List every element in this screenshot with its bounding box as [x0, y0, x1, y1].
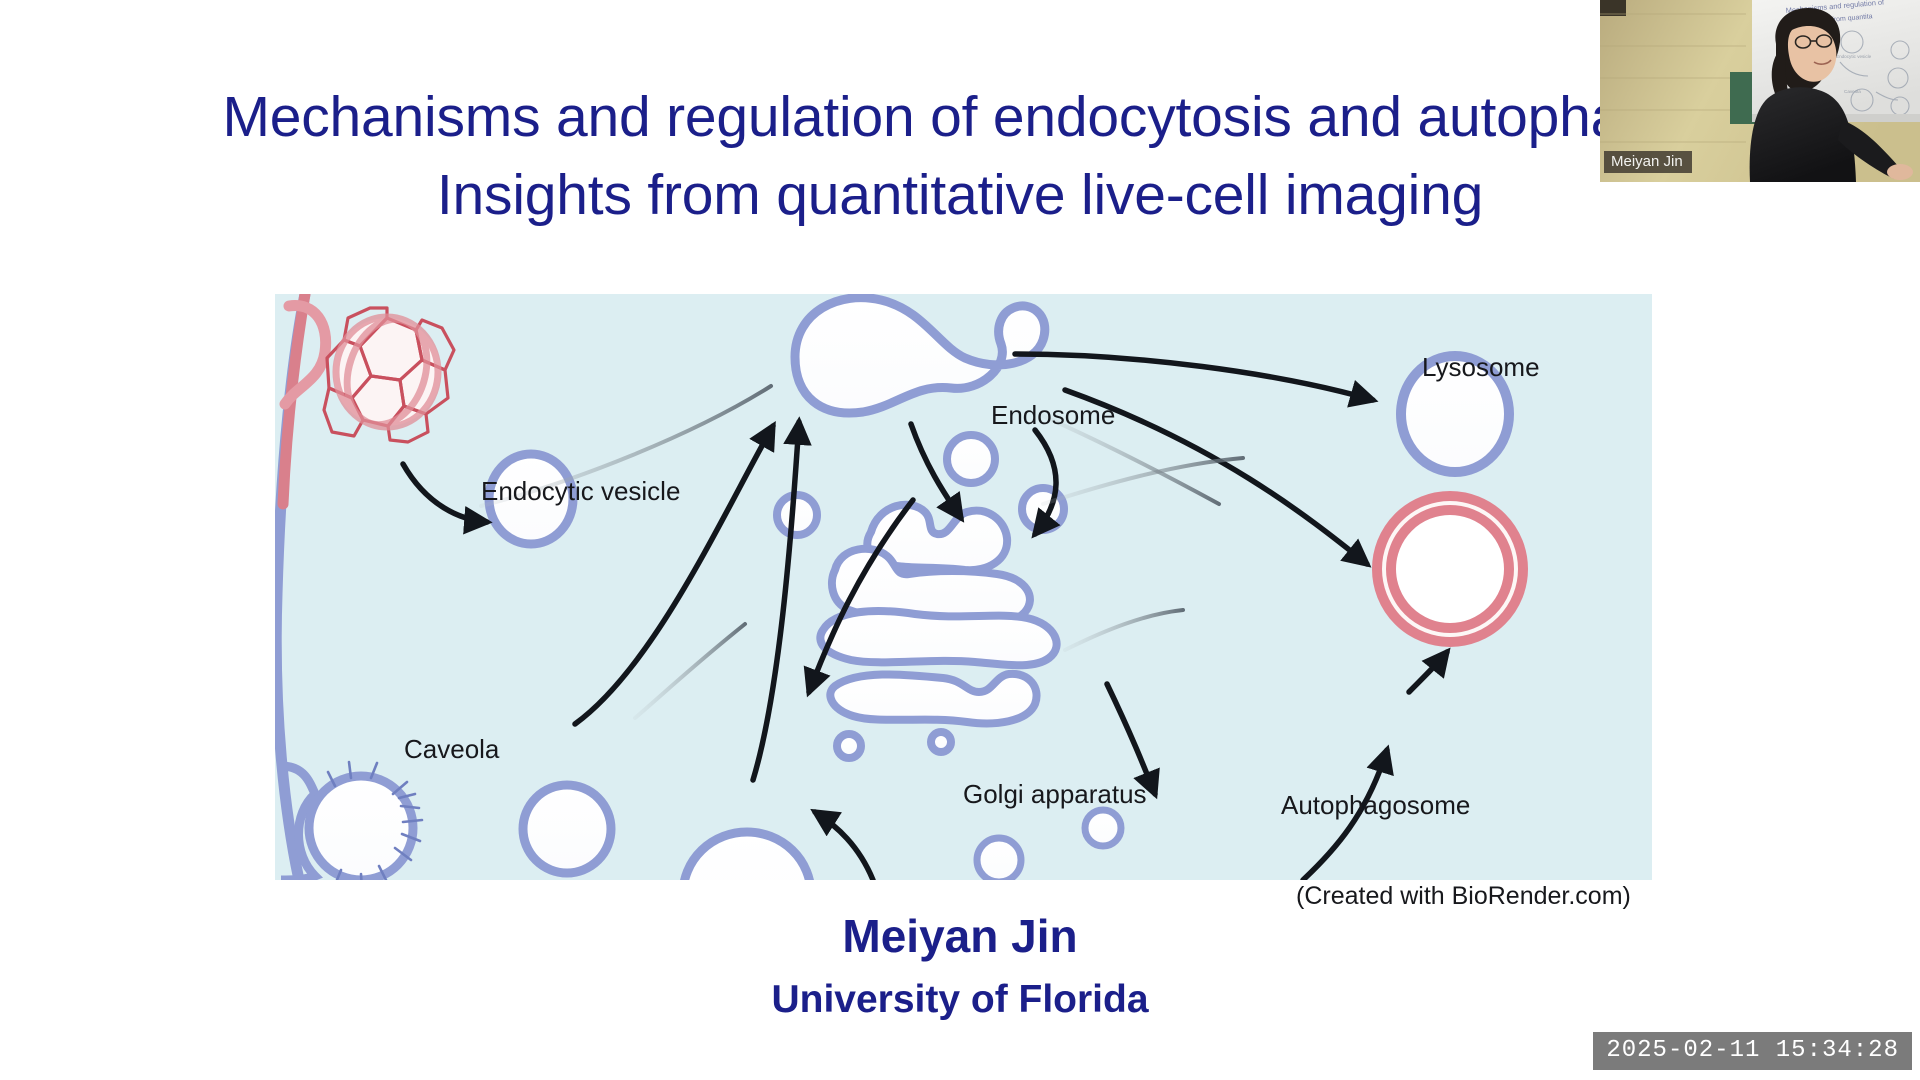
diagram-label-endocytic-vesicle: Endocytic vesicle — [481, 476, 680, 507]
svg-text:Caveola: Caveola — [1844, 89, 1861, 94]
speaker-name: Meiyan Jin — [0, 908, 1920, 964]
lower-vesicle-shape — [683, 832, 811, 880]
presenter-webcam-panel[interactable]: Mechanisms and regulation of Insights fr… — [1600, 0, 1920, 182]
speaker-affiliation: University of Florida — [0, 976, 1920, 1024]
endosome-shape — [795, 298, 1045, 413]
recording-timestamp: 2025-02-11 15:34:28 — [1593, 1032, 1912, 1070]
caveolar-vesicle-shape — [523, 785, 611, 873]
autophagosome-shape — [1377, 496, 1523, 642]
svg-text:Endocytic vesicle: Endocytic vesicle — [1836, 54, 1872, 59]
diagram-label-caveola: Caveola — [404, 734, 499, 765]
diagram-label-autophagosome: Autophagosome — [1281, 790, 1470, 821]
diagram-label-lysosome: Lysosome — [1422, 352, 1540, 383]
biorender-credit: (Created with BioRender.com) — [1296, 882, 1631, 911]
diagram-label-golgi-apparatus: Golgi apparatus — [963, 779, 1147, 810]
diagram-label-endosome: Endosome — [991, 400, 1115, 431]
golgi-apparatus-shape — [777, 435, 1064, 758]
clathrin-coated-pit — [324, 308, 454, 442]
caveola-shape — [281, 762, 422, 880]
presenter-name-label: Meiyan Jin — [1604, 151, 1692, 173]
small-vesicles — [977, 810, 1121, 880]
